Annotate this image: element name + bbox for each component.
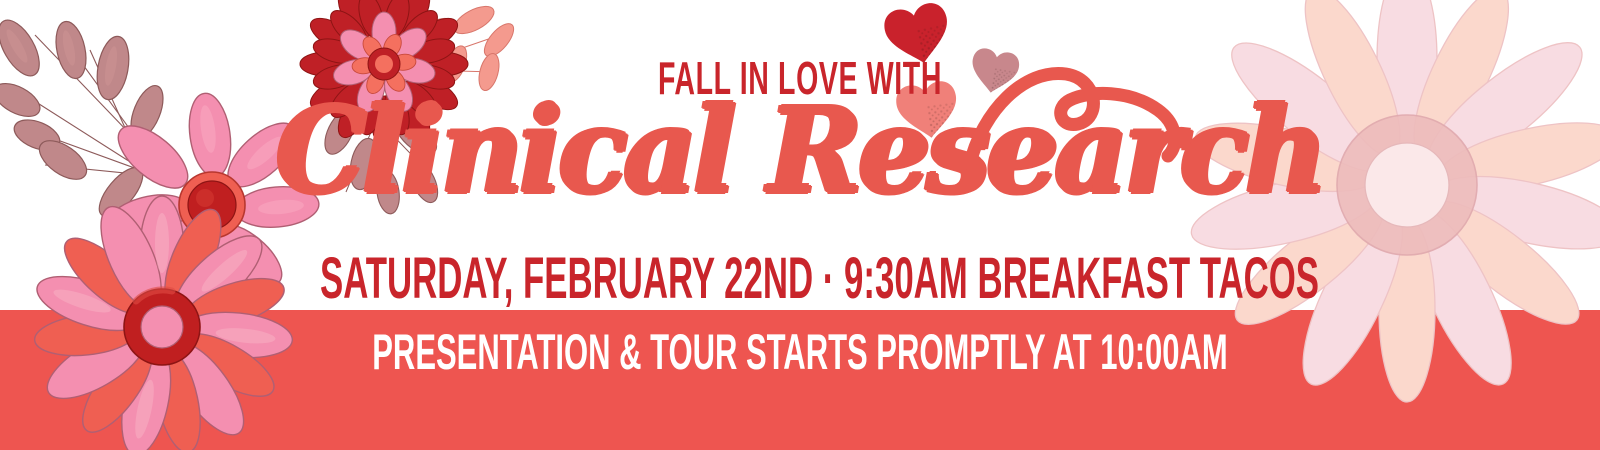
banner-text-layer: FALL IN LOVE WITH Clinical Research SATU…	[0, 0, 1600, 450]
script-swash-flourish	[962, 52, 1192, 172]
presentation-time-text: PRESENTATION & TOUR STARTS PROMPTLY AT 1…	[304, 327, 1296, 377]
script-title: Clinical Research	[32, 86, 1568, 216]
event-dateline: SATURDAY, FEBRUARY 22ND · 9:30AM BREAKFA…	[320, 250, 1280, 308]
valentine-event-banner: FALL IN LOVE WITH Clinical Research SATU…	[0, 0, 1600, 450]
